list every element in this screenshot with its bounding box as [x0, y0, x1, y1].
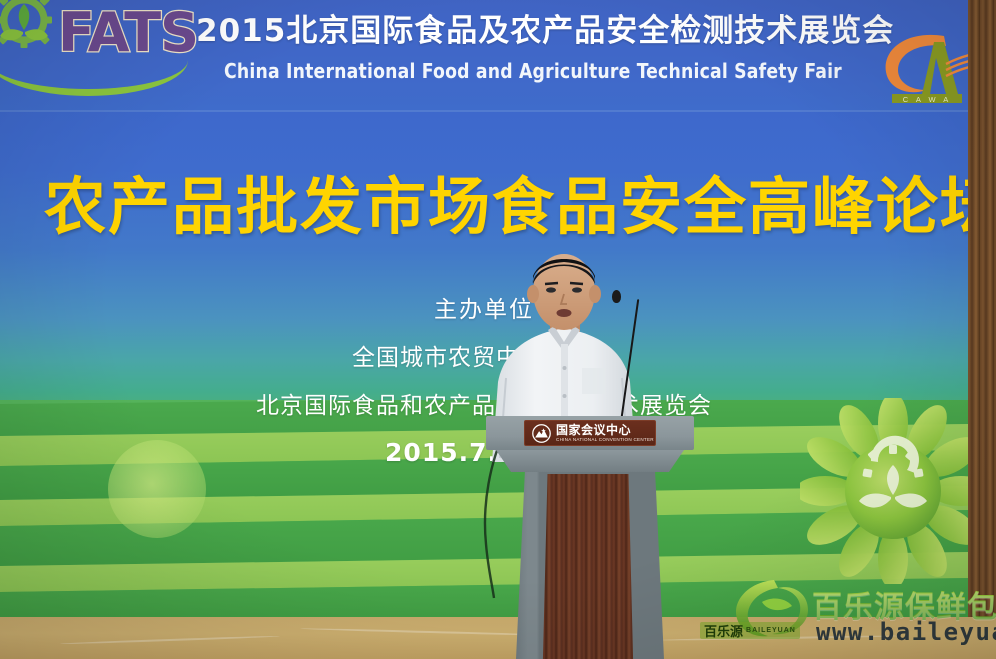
banner-title-en: China International Food and Agriculture… [224, 60, 819, 82]
podium: 国家会议中心 CHINA NATIONAL CONVENTION CENTER [470, 416, 710, 659]
fats-logo: FATS [2, 2, 182, 106]
gear-leaf-svg [0, 0, 62, 60]
podium-bevel [496, 450, 684, 472]
fats-swoosh-graphic [0, 60, 188, 96]
banner-title-cn: 2015北京国际食品及农产品安全检测技术展览会 [196, 14, 856, 50]
watermark-badge: 百乐源 BAILEYUAN [700, 622, 800, 639]
podium-sign: 国家会议中心 CHINA NATIONAL CONVENTION CENTER [524, 420, 656, 446]
mountain-star-icon [532, 424, 551, 443]
podium-wood-panel [542, 474, 634, 659]
cawa-wordmark: C A W A [903, 95, 952, 104]
fats-wordmark: FATS [58, 6, 198, 60]
forum-main-title: 农产品批发市场食品安全高峰论坛 [44, 176, 954, 238]
watermark-badge-en: BAILEYUAN [746, 627, 796, 634]
podium-sign-en: CHINA NATIONAL CONVENTION CENTER [556, 438, 654, 443]
gear-leaf-icon [0, 0, 62, 60]
microphone-icon [612, 290, 621, 303]
watermark-badge-cn: 百乐源 [704, 621, 743, 640]
watermark-url: www.baileyuan.cn [816, 618, 996, 646]
screenshot-stage: FATS C A W A 2015北京国际食品及农产品安全检测技术展览会 Chi… [0, 0, 996, 659]
podium-sign-cn: 国家会议中心 [556, 424, 654, 436]
watermark: 百乐源保鲜包装 百乐源 BAILEYUAN www.baileyuan.cn [700, 578, 996, 652]
